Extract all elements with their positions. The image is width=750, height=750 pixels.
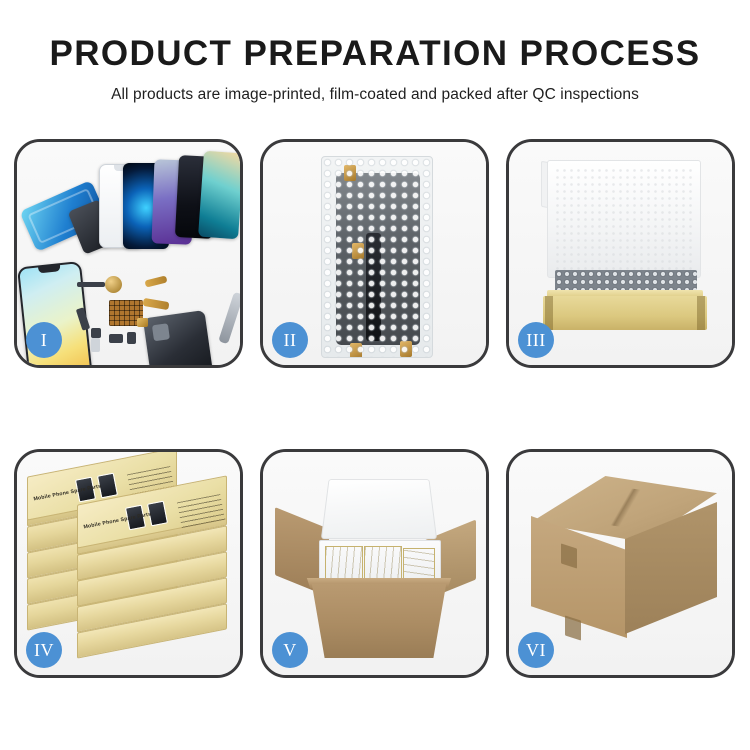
- step-badge-3: III: [518, 322, 554, 358]
- header: PRODUCT PREPARATION PROCESS All products…: [0, 36, 750, 104]
- small-component: [91, 328, 101, 338]
- gold-connector-tab: [344, 165, 356, 181]
- foam-lid: [321, 479, 437, 539]
- process-step-4: Mobile Phone Spare Parts Mobile Phone Sp…: [14, 449, 243, 678]
- gold-contact-part: [137, 318, 148, 327]
- antenna-strip-part: [77, 282, 105, 287]
- product-preparation-infographic: PRODUCT PREPARATION PROCESS All products…: [0, 0, 750, 750]
- gold-connector-tab: [400, 341, 412, 357]
- process-step-2: II: [260, 139, 489, 368]
- bubble-wrap-bag: [321, 156, 433, 358]
- step-badge-5: V: [272, 632, 308, 668]
- carton-tape-mark: [565, 615, 581, 640]
- phone-back-housing: [143, 310, 213, 368]
- gold-connector-tab: [352, 243, 364, 259]
- process-step-1: I: [14, 139, 243, 368]
- carton-front-panel: [299, 584, 459, 658]
- page-title: PRODUCT PREPARATION PROCESS: [0, 36, 750, 73]
- sim-tray-part: [91, 338, 100, 352]
- yellow-box-bundle: [325, 546, 363, 582]
- small-component: [127, 332, 136, 344]
- speaker-component: [105, 276, 122, 293]
- flex-cable-part: [144, 275, 167, 287]
- process-step-5: V: [260, 449, 489, 678]
- process-step-6: VI: [506, 449, 735, 678]
- lcd-display-teal: [198, 151, 243, 240]
- wrapped-flex-cable: [366, 233, 381, 341]
- step-badge-1: I: [26, 322, 62, 358]
- step-badge-4: IV: [26, 632, 62, 668]
- repair-tool: [218, 292, 243, 345]
- small-component: [109, 334, 123, 343]
- process-step-3: III: [506, 139, 735, 368]
- step-badge-6: VI: [518, 632, 554, 668]
- gold-connector-tab: [350, 343, 362, 358]
- page-subtitle: All products are image-printed, film-coa…: [0, 86, 750, 104]
- foam-liner-sheet: [547, 160, 701, 278]
- kraft-box-front: [543, 296, 707, 330]
- yellow-box-bundle: [364, 546, 402, 580]
- flex-cable-part: [143, 298, 170, 310]
- yellow-box-bundle: [403, 548, 435, 580]
- step-badge-2: II: [272, 322, 308, 358]
- wrapped-screen-assembly: [336, 173, 420, 345]
- process-step-grid: I II: [14, 139, 736, 679]
